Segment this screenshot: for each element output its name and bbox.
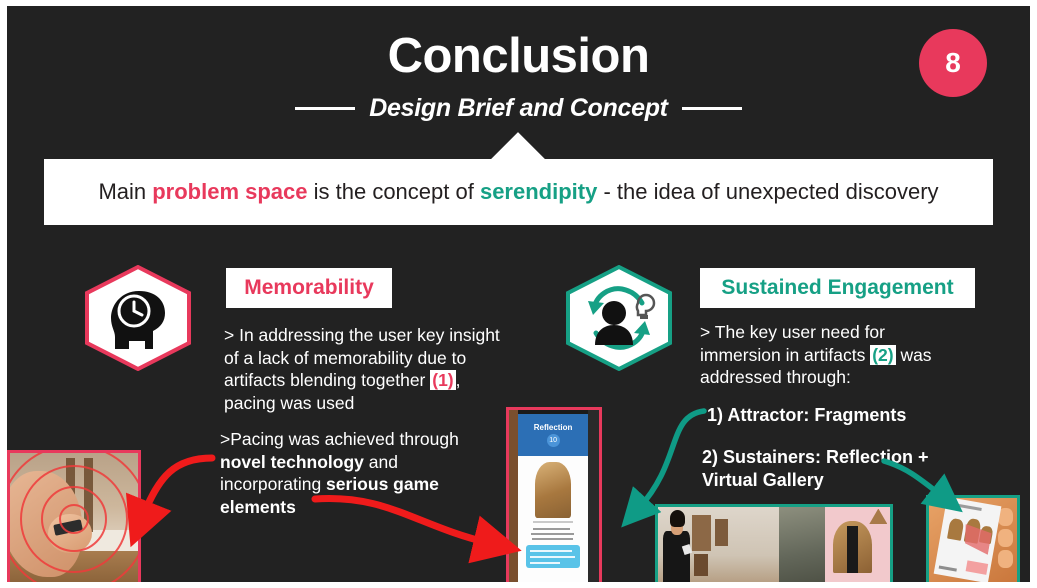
museum-chair [694, 554, 709, 576]
hand-finger-2 [998, 529, 1014, 546]
banner-highlight-problem-space: problem space [152, 179, 307, 204]
phone-body-line-2 [531, 533, 575, 535]
phone-body-line-1 [533, 528, 569, 530]
key-statement-banner: Main problem space is the concept of ser… [44, 159, 993, 225]
banner-part3: - the idea of unexpected discovery [597, 179, 938, 204]
phone-screen: Reflection 10 [518, 414, 588, 582]
memorability-paragraph-2: >Pacing was achieved through novel techn… [220, 428, 490, 518]
gallery-action-button[interactable] [965, 560, 989, 575]
sus-p1-before: > The key user need for immersion in art… [700, 322, 885, 365]
slide-canvas: Conclusion Design Brief and Concept 8 Ma… [0, 0, 1037, 588]
gallery-screen-title-rule [951, 503, 982, 511]
subtitle-rule-right [682, 107, 742, 110]
phone-screen-header: Reflection 10 [518, 414, 588, 456]
reference-tag-1: (1) [430, 370, 455, 390]
phone-artifact-image [535, 462, 571, 517]
banner-part2: is the concept of [308, 179, 480, 204]
page-number-badge: 8 [919, 29, 987, 97]
museum-gallery-photo [655, 504, 893, 582]
mem-p2-seg1: >Pacing was achieved through [220, 429, 459, 449]
head-with-clock-icon [83, 265, 193, 371]
museum-stone-sculpture [779, 507, 825, 582]
hex-badge-memorability [83, 265, 193, 371]
phone-screen-title: Reflection [534, 423, 573, 432]
museum-wall-art-1 [692, 515, 711, 551]
red-arrow-to-ripple-photo [143, 458, 212, 516]
page-title: Conclusion [7, 28, 1030, 84]
fragment-shape-2 [847, 526, 857, 573]
phone-chat-line-2 [530, 556, 575, 558]
section-label-sustained-engagement: Sustained Engagement [700, 268, 975, 308]
slide-stage: Conclusion Design Brief and Concept 8 Ma… [7, 6, 1030, 582]
banner-highlight-serendipity: serendipity [480, 179, 597, 204]
museum-wall-art-2 [715, 519, 728, 546]
fragment-shape-3 [869, 509, 887, 525]
mem-p2-bold-novel-technology: novel technology [220, 452, 364, 472]
phone-chat-line-1 [530, 550, 572, 552]
section-label-memorability: Memorability [226, 268, 392, 308]
person-cycle-idea-icon [564, 265, 674, 371]
page-subtitle: Design Brief and Concept [369, 94, 667, 123]
gallery-thumb-1 [946, 518, 963, 540]
gallery-footer-rule [939, 566, 957, 572]
phone-photo-left-edge [509, 410, 518, 582]
visitor-body [663, 531, 691, 582]
hand-finger-3 [998, 550, 1014, 567]
phone-chat-line-3 [530, 562, 560, 564]
banner-part1: Main [98, 179, 152, 204]
memorability-paragraph-1: > In addressing the user key insight of … [224, 324, 510, 414]
list-item-sustainers: 2) Sustainers: Reflection + Virtual Gall… [702, 446, 964, 493]
virtual-gallery-phone-photo [926, 495, 1020, 582]
phone-chat-bubble [526, 545, 579, 569]
museum-fragment-overlay [825, 507, 890, 582]
visitor-phone [682, 543, 693, 554]
visitor-hair [670, 510, 685, 526]
reflection-screen-photo: Reflection 10 [506, 407, 602, 582]
key-statement-text: Main problem space is the concept of ser… [98, 179, 938, 205]
reference-tag-2: (2) [870, 345, 895, 365]
phone-body-line-3 [532, 538, 573, 540]
phone-caption-rule [533, 521, 572, 523]
sustained-paragraph-1: > The key user need for immersion in art… [700, 321, 932, 389]
phone-photo-right-edge [588, 410, 599, 582]
museum-visitor [661, 510, 693, 582]
phone-screen-badge: 10 [547, 434, 560, 447]
teal-arrow-to-museum-photo [639, 411, 704, 508]
museum-gallery-room [658, 507, 790, 582]
subtitle-rule-left [295, 107, 355, 110]
subtitle-group: Design Brief and Concept [7, 94, 1030, 123]
ripple-interaction-photo [7, 450, 141, 582]
ripple-ring-4 [7, 450, 141, 582]
hex-badge-sustained-engagement [564, 265, 674, 371]
list-item-attractor: 1) Attractor: Fragments [707, 404, 967, 427]
